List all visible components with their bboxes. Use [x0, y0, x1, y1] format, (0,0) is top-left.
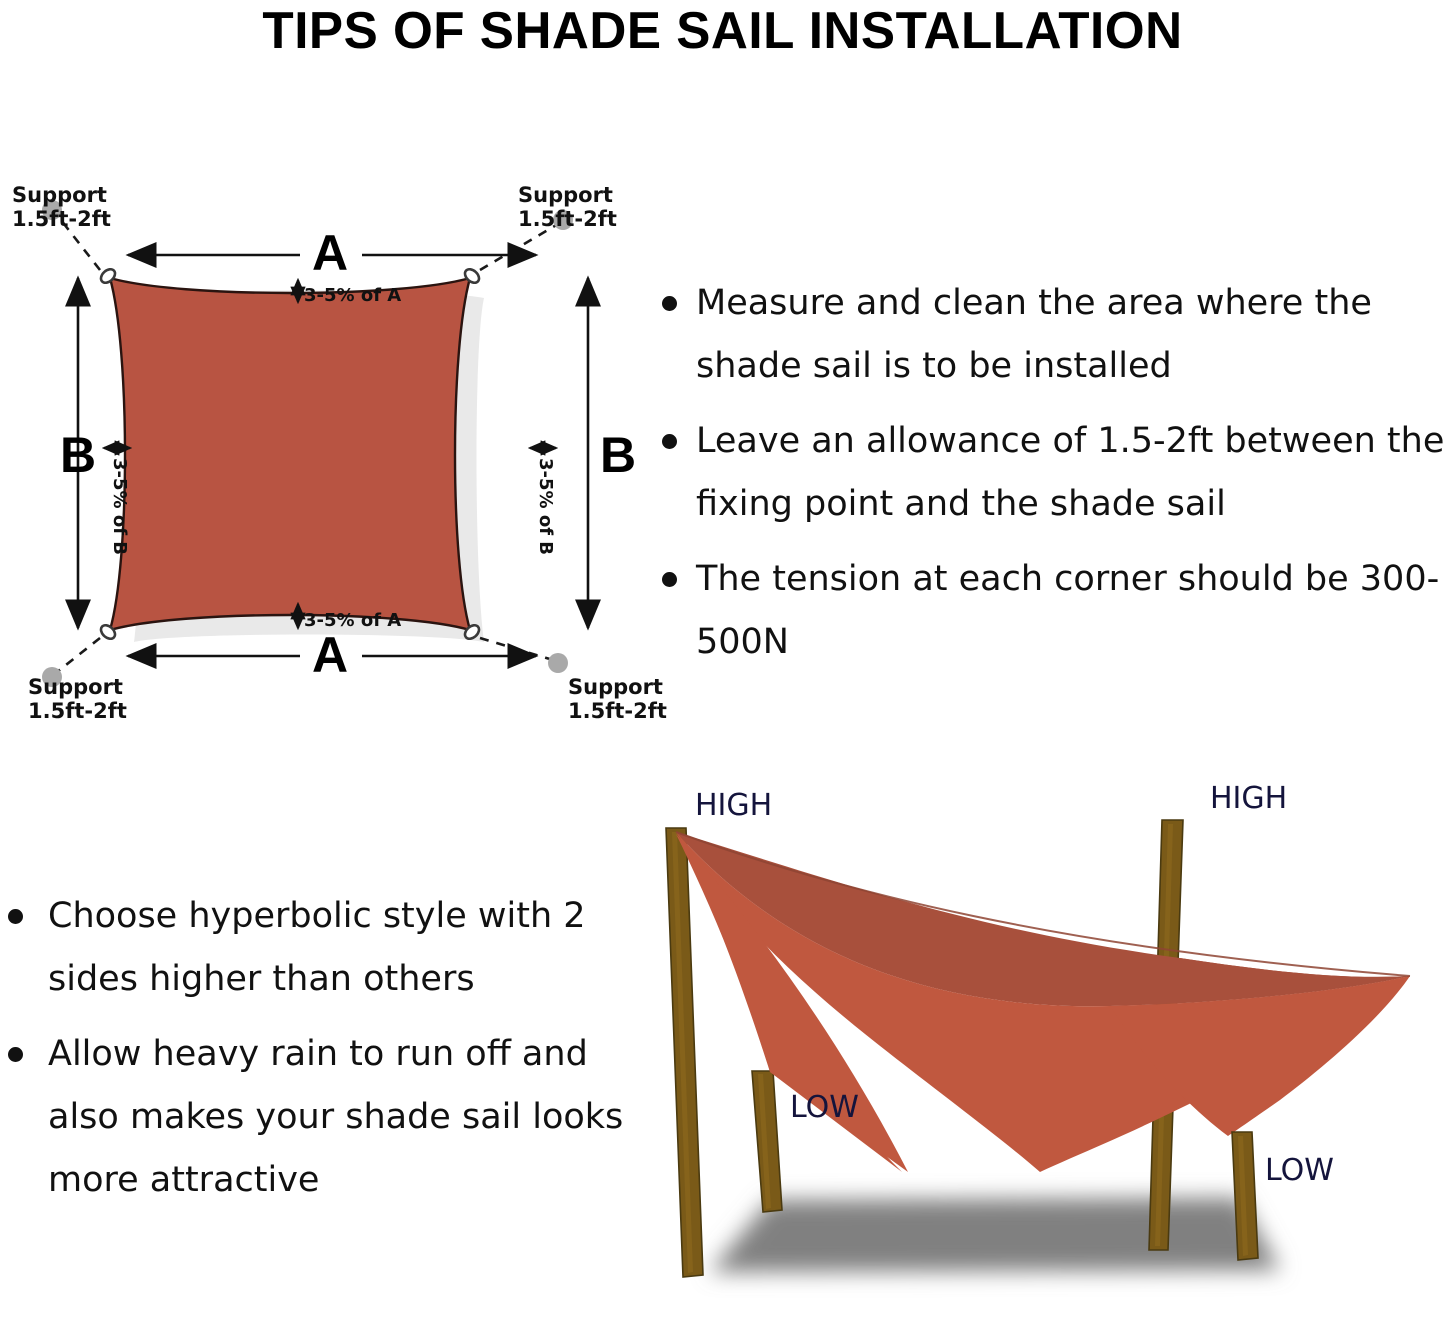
bullet-icon	[662, 572, 677, 587]
curve-label-left: 3-5% of B	[109, 458, 130, 555]
bullet-icon	[662, 296, 677, 311]
tips-right-list: Measure and clean the area where the sha…	[648, 272, 1445, 674]
dimension-label-right-B: B	[600, 427, 636, 483]
tip-text: Leave an allowance of 1.5-2ft between th…	[696, 421, 1444, 524]
curve-label-bottom: 3-5% of A	[304, 610, 401, 631]
rectangular-sail-diagram: Support 1.5ft-2ft Support 1.5ft-2ft Supp…	[0, 160, 660, 730]
tip-text: Allow heavy rain to run off and also mak…	[48, 1034, 623, 1200]
support-label-bottom-left: Support 1.5ft-2ft	[28, 675, 127, 723]
support-label-top-left: Support 1.5ft-2ft	[12, 183, 111, 231]
curve-label-right: 3-5% of B	[535, 458, 556, 555]
ground-shadow	[710, 1198, 1280, 1272]
support-label-bottom-left-line1: Support	[28, 675, 123, 699]
list-item: Leave an allowance of 1.5-2ft between th…	[648, 410, 1445, 536]
label-low-left: LOW	[790, 1090, 859, 1125]
dimension-label-bottom-A: A	[312, 627, 348, 683]
support-label-bottom-left-line2: 1.5ft-2ft	[28, 699, 127, 723]
support-label-top-right-line1: Support	[518, 183, 613, 207]
page-title: TIPS OF SHADE SAIL INSTALLATION	[11, 2, 1434, 60]
support-label-top-left-line1: Support	[12, 183, 107, 207]
tips-left-panel: Choose hyperbolic style with 2 sides hig…	[0, 885, 625, 1224]
tips-right-panel: Measure and clean the area where the sha…	[648, 272, 1445, 686]
dimension-label-left-B: B	[60, 427, 96, 483]
shade-sail-shape	[110, 278, 470, 630]
pole-low-left	[752, 1071, 782, 1212]
bullet-icon	[662, 434, 677, 449]
label-low-right: LOW	[1265, 1153, 1334, 1188]
tip-text: Choose hyperbolic style with 2 sides hig…	[48, 896, 586, 999]
list-item: The tension at each corner should be 300…	[648, 548, 1445, 674]
list-item: Measure and clean the area where the sha…	[648, 272, 1445, 398]
dimension-label-top-A: A	[312, 225, 348, 281]
list-item: Allow heavy rain to run off and also mak…	[0, 1023, 625, 1212]
bullet-icon	[8, 1047, 23, 1062]
support-label-top-right: Support 1.5ft-2ft	[518, 183, 617, 231]
support-label-bottom-right-line2: 1.5ft-2ft	[568, 699, 667, 723]
tip-text: The tension at each corner should be 300…	[696, 559, 1439, 662]
support-label-top-left-line2: 1.5ft-2ft	[12, 207, 111, 231]
support-label-top-right-line2: 1.5ft-2ft	[518, 207, 617, 231]
tip-text: Measure and clean the area where the sha…	[696, 283, 1372, 386]
tips-left-list: Choose hyperbolic style with 2 sides hig…	[0, 885, 625, 1212]
pole-high-left	[666, 828, 703, 1277]
hyperbolic-sail-shape	[676, 832, 1410, 1172]
curve-label-top: 3-5% of A	[304, 285, 401, 306]
label-high-right: HIGH	[1210, 781, 1287, 816]
label-high-left: HIGH	[695, 788, 772, 823]
support-dot-bottom-right	[548, 653, 568, 673]
bullet-icon	[8, 909, 23, 924]
hyperbolic-sail-diagram: HIGH HIGH LOW LOW	[640, 780, 1445, 1319]
list-item: Choose hyperbolic style with 2 sides hig…	[0, 885, 625, 1011]
